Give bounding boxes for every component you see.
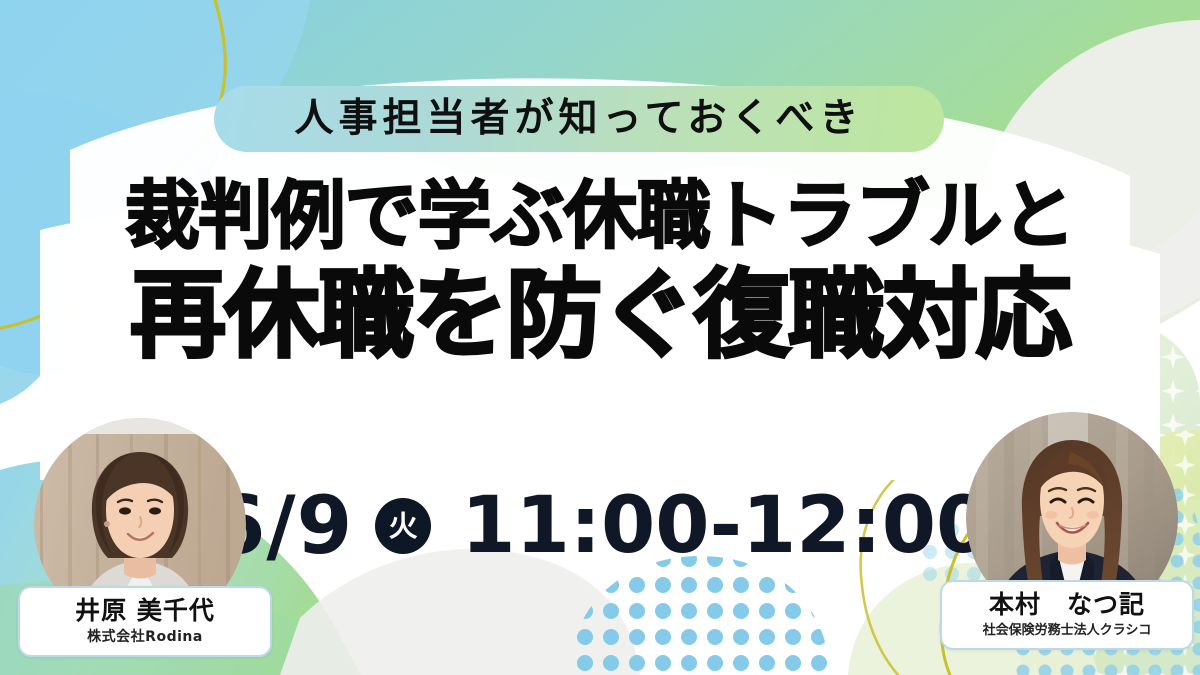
day-of-week-badge: 火	[375, 498, 431, 554]
speaker-info-card-left: 井原 美千代 株式会社Rodina	[18, 586, 272, 657]
title-line-1: 裁判例で学ぶ休職トラブルと	[0, 178, 1200, 255]
speaker-card-left: 井原 美千代 株式会社Rodina	[18, 418, 272, 657]
speaker-name-left: 井原 美千代	[28, 597, 262, 625]
eyebrow-badge: 人事担当者が知っておくべき	[214, 86, 944, 152]
speaker-card-right: 本村 なつ記 社会保険労務士法人クラシコ	[940, 412, 1194, 650]
speaker-name-right: 本村 なつ記	[950, 591, 1184, 619]
event-time: 11:00-12:00	[461, 487, 990, 565]
eyebrow-badge-text: 人事担当者が知っておくべき	[295, 99, 864, 138]
speaker-org-left: 株式会社Rodina	[28, 629, 262, 646]
speaker-org-right: 社会保険労務士法人クラシコ	[950, 623, 1184, 639]
webinar-banner: 人事担当者が知っておくべき 裁判例で学ぶ休職トラブルと 再休職を防ぐ復職対応 6…	[0, 0, 1200, 675]
page-title: 裁判例で学ぶ休職トラブルと 再休職を防ぐ復職対応	[0, 178, 1200, 365]
speaker-info-card-right: 本村 なつ記 社会保険労務士法人クラシコ	[940, 580, 1194, 650]
title-line-2: 再休職を防ぐ復職対応	[0, 267, 1200, 365]
